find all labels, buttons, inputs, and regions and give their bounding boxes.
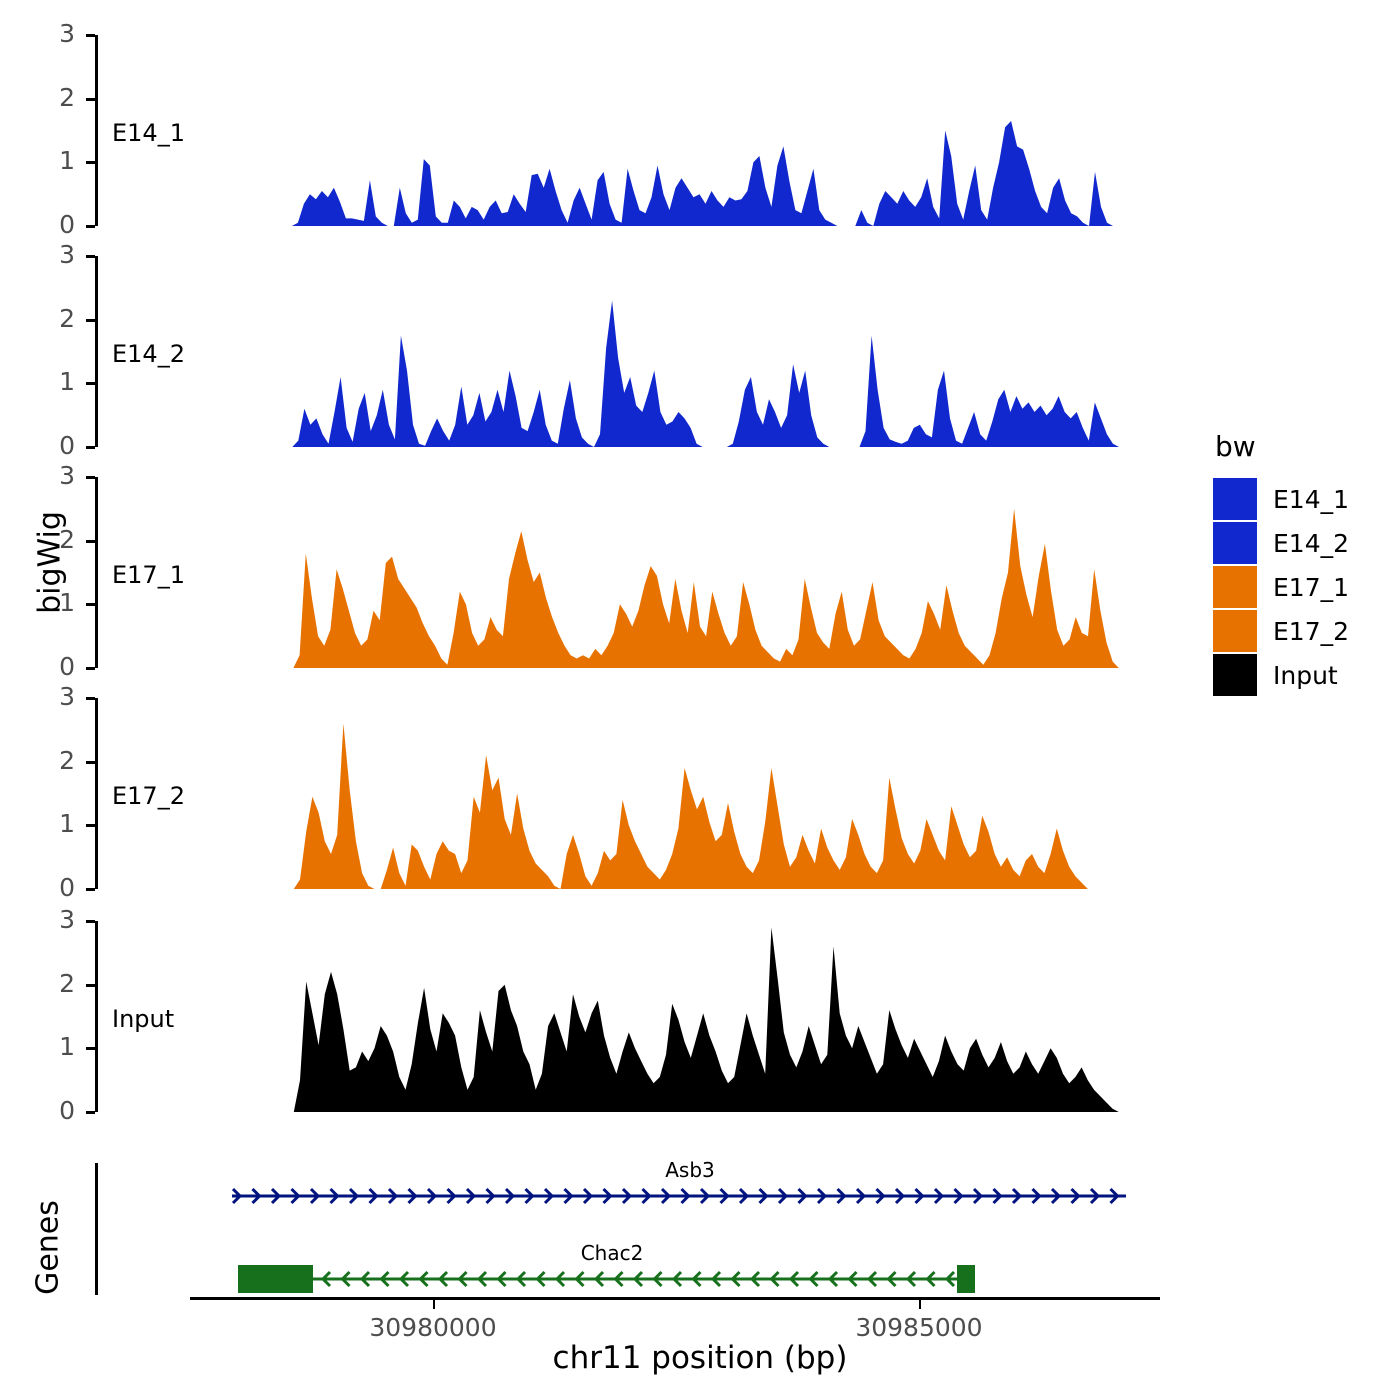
y-axis-tick: [86, 225, 95, 228]
y-axis-tick: [86, 34, 95, 37]
y-axis-tick-label: 1: [27, 588, 75, 617]
legend-swatch: [1213, 654, 1257, 696]
y-axis-tick-label: 1: [27, 1032, 75, 1061]
y-axis-tick: [86, 1111, 95, 1114]
x-axis-title: chr11 position (bp): [0, 1340, 1400, 1376]
y-axis-spine: [95, 256, 98, 447]
y-axis-tick: [86, 824, 95, 827]
y-axis-tick-label: 0: [27, 873, 75, 902]
y-axis-tick-label: 1: [27, 809, 75, 838]
x-axis-line: [190, 1297, 1160, 1300]
y-axis-title-genes: Genes: [31, 1138, 66, 1358]
y-axis-spine: [95, 698, 98, 889]
legend-label: E14_2: [1273, 529, 1349, 558]
legend-title: bw: [1215, 430, 1349, 463]
legend-swatch: [1213, 478, 1257, 520]
y-axis-tick: [86, 920, 95, 923]
track-label-e14_1: E14_1: [112, 119, 185, 147]
y-axis-spine: [95, 35, 98, 226]
y-axis-tick-label: 3: [27, 905, 75, 934]
x-axis-tick-label: 30985000: [809, 1313, 1029, 1342]
y-axis-tick-label: 1: [27, 146, 75, 175]
y-axis-tick: [86, 984, 95, 987]
y-axis-tick: [86, 667, 95, 670]
legend-item-e14_2[interactable]: E14_2: [1213, 521, 1349, 565]
legend-swatch: [1213, 522, 1257, 564]
legend-label: E14_1: [1273, 485, 1349, 514]
y-axis-spine: [95, 477, 98, 668]
y-axis-tick-label: 1: [27, 367, 75, 396]
y-axis-tick: [86, 382, 95, 385]
gene-label-chac2: Chac2: [512, 1241, 712, 1265]
gene-axis-spine: [95, 1163, 98, 1295]
track-area-e14_2: [0, 0, 1400, 1400]
gene-label-asb3: Asb3: [590, 1158, 790, 1182]
track-label-e17_2: E17_2: [112, 782, 185, 810]
y-axis-tick: [86, 161, 95, 164]
legend-swatch: [1213, 610, 1257, 652]
y-axis-tick: [86, 697, 95, 700]
legend-item-e17_2[interactable]: E17_2: [1213, 609, 1349, 653]
x-axis-tick: [433, 1300, 435, 1309]
track-label-e14_2: E14_2: [112, 340, 185, 368]
track-area-e17_1: [0, 0, 1400, 1400]
legend: bw E14_1E14_2E17_1E17_2Input: [1213, 430, 1349, 697]
y-axis-tick-label: 2: [27, 969, 75, 998]
track-label-input: Input: [112, 1005, 174, 1033]
track-label-e17_1: E17_1: [112, 561, 185, 589]
y-axis-spine: [95, 921, 98, 1112]
track-area-e14_1: [0, 0, 1400, 1400]
y-axis-tick: [86, 761, 95, 764]
y-axis-tick-label: 0: [27, 1096, 75, 1125]
figure-root: bigWig Genes 0123E14_10123E14_20123E17_1…: [0, 0, 1400, 1400]
x-axis-tick-label: 30980000: [323, 1313, 543, 1342]
y-axis-tick: [86, 255, 95, 258]
y-axis-tick-label: 3: [27, 682, 75, 711]
y-axis-tick: [86, 476, 95, 479]
legend-swatch: [1213, 566, 1257, 608]
y-axis-tick: [86, 446, 95, 449]
gene-models: [0, 0, 1400, 1400]
y-axis-tick-label: 2: [27, 525, 75, 554]
legend-items: E14_1E14_2E17_1E17_2Input: [1213, 477, 1349, 697]
y-axis-tick: [86, 1047, 95, 1050]
y-axis-tick: [86, 540, 95, 543]
y-axis-tick: [86, 603, 95, 606]
legend-label: E17_1: [1273, 573, 1349, 602]
track-area-input: [0, 0, 1400, 1400]
legend-item-e17_1[interactable]: E17_1: [1213, 565, 1349, 609]
legend-label: E17_2: [1273, 617, 1349, 646]
y-axis-tick-label: 0: [27, 652, 75, 681]
legend-label: Input: [1273, 661, 1338, 690]
y-axis-tick-label: 2: [27, 83, 75, 112]
y-axis-tick-label: 0: [27, 210, 75, 239]
y-axis-tick-label: 2: [27, 746, 75, 775]
y-axis-tick-label: 3: [27, 461, 75, 490]
legend-item-input[interactable]: Input: [1213, 653, 1349, 697]
x-axis-tick: [919, 1300, 921, 1309]
y-axis-tick: [86, 319, 95, 322]
y-axis-tick-label: 3: [27, 19, 75, 48]
track-area-e17_2: [0, 0, 1400, 1400]
y-axis-tick-label: 0: [27, 431, 75, 460]
y-axis-tick-label: 2: [27, 304, 75, 333]
y-axis-tick: [86, 98, 95, 101]
y-axis-tick: [86, 888, 95, 891]
legend-item-e14_1[interactable]: E14_1: [1213, 477, 1349, 521]
y-axis-tick-label: 3: [27, 240, 75, 269]
